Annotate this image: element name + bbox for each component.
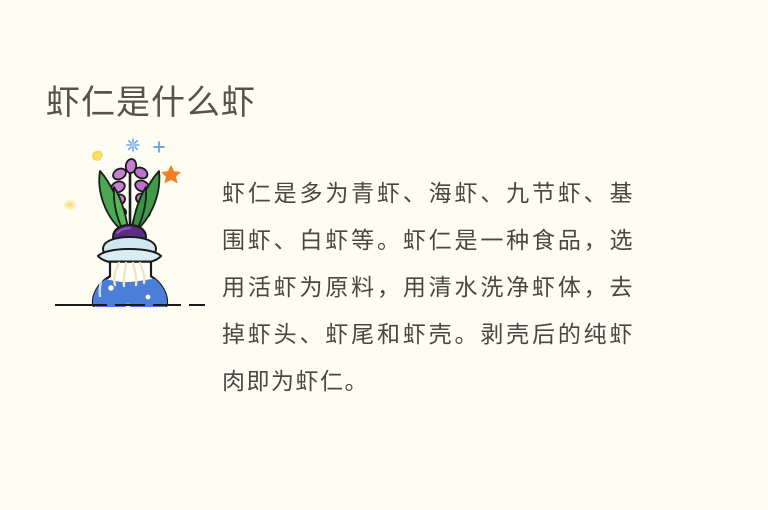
blue-plus-sparkle	[154, 142, 164, 152]
jar-neck	[98, 237, 161, 264]
article-body-text: 虾仁是多为青虾、海虾、九节虾、基围虾、白虾等。虾仁是一种食品，选用活虾为原料，用…	[222, 171, 634, 406]
pale-yellow-sparkle	[64, 200, 76, 210]
yellow-crescent-sparkle	[92, 151, 103, 161]
page-title: 虾仁是什么虾	[46, 80, 256, 126]
hyacinth-illustration	[55, 125, 205, 307]
orange-star-sparkle	[161, 165, 181, 183]
article-page: 虾仁是什么虾	[0, 0, 768, 510]
blue-water	[85, 278, 175, 307]
blue-snowflake-sparkle	[127, 139, 139, 151]
